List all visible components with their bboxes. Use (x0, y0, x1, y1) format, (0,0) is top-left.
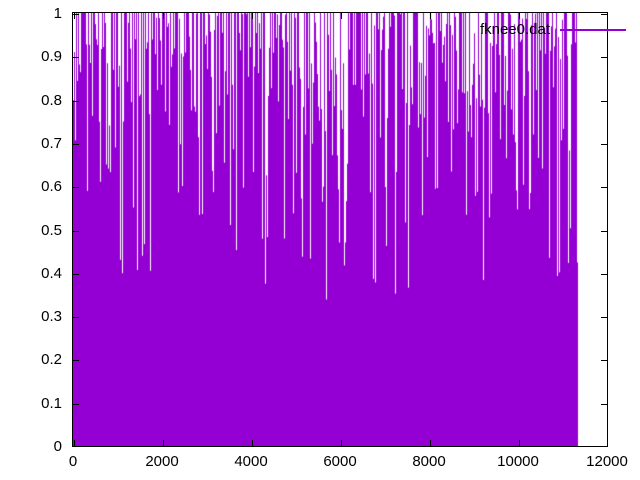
y-tick-mark-right (601, 187, 607, 188)
y-tick-label: 0.2 (0, 352, 62, 367)
y-tick-label: 0.4 (0, 266, 62, 281)
y-tick-mark-right (601, 404, 607, 405)
y-tick-label: 0.3 (0, 309, 62, 324)
y-tick-label: 0.6 (0, 179, 62, 194)
y-tick-label: 0.8 (0, 93, 62, 108)
x-tick-mark (430, 440, 431, 446)
x-tick-label: 10000 (497, 454, 539, 469)
y-tick-label: 1 (0, 6, 62, 21)
y-tick-mark (73, 404, 79, 405)
y-tick-mark-right (601, 144, 607, 145)
x-tick-mark (252, 440, 253, 446)
x-tick-mark-top (163, 13, 164, 19)
legend-line-sample (560, 29, 626, 31)
y-tick-mark (73, 274, 79, 275)
y-tick-label: 0 (0, 439, 62, 454)
y-tick-mark-right (601, 317, 607, 318)
x-tick-label: 12000 (586, 454, 628, 469)
x-tick-mark-top (430, 13, 431, 19)
y-tick-label: 0.9 (0, 49, 62, 64)
x-tick-mark-top (74, 13, 75, 19)
y-tick-mark (73, 187, 79, 188)
y-tick-label: 0.1 (0, 396, 62, 411)
y-tick-mark-right (601, 101, 607, 102)
x-tick-mark (74, 440, 75, 446)
x-tick-label: 6000 (323, 454, 356, 469)
chart-root: 00.10.20.30.40.50.60.70.80.91 0200040006… (0, 0, 640, 480)
y-tick-mark (73, 317, 79, 318)
x-tick-mark-top (341, 13, 342, 19)
y-tick-mark (73, 360, 79, 361)
plot-area (72, 12, 608, 447)
y-tick-mark-right (601, 14, 607, 15)
y-tick-mark-right (601, 231, 607, 232)
y-tick-mark (73, 231, 79, 232)
x-tick-mark (519, 440, 520, 446)
y-tick-mark (73, 101, 79, 102)
x-tick-label: 4000 (234, 454, 267, 469)
x-tick-mark (163, 440, 164, 446)
y-tick-mark (73, 57, 79, 58)
y-tick-label: 0.7 (0, 136, 62, 151)
y-tick-label: 0.5 (0, 223, 62, 238)
x-tick-mark-top (519, 13, 520, 19)
x-tick-mark (341, 440, 342, 446)
series-fknee0-curve (73, 13, 607, 446)
y-tick-mark (73, 144, 79, 145)
x-tick-label: 2000 (145, 454, 178, 469)
legend-entry-label: fknee0.dat (480, 22, 550, 37)
x-tick-label: 8000 (412, 454, 445, 469)
y-tick-mark-right (601, 274, 607, 275)
x-tick-label: 0 (69, 454, 77, 469)
y-tick-mark-right (601, 360, 607, 361)
x-tick-mark-top (252, 13, 253, 19)
y-tick-mark-right (601, 57, 607, 58)
legend: fknee0.dat (480, 22, 626, 37)
